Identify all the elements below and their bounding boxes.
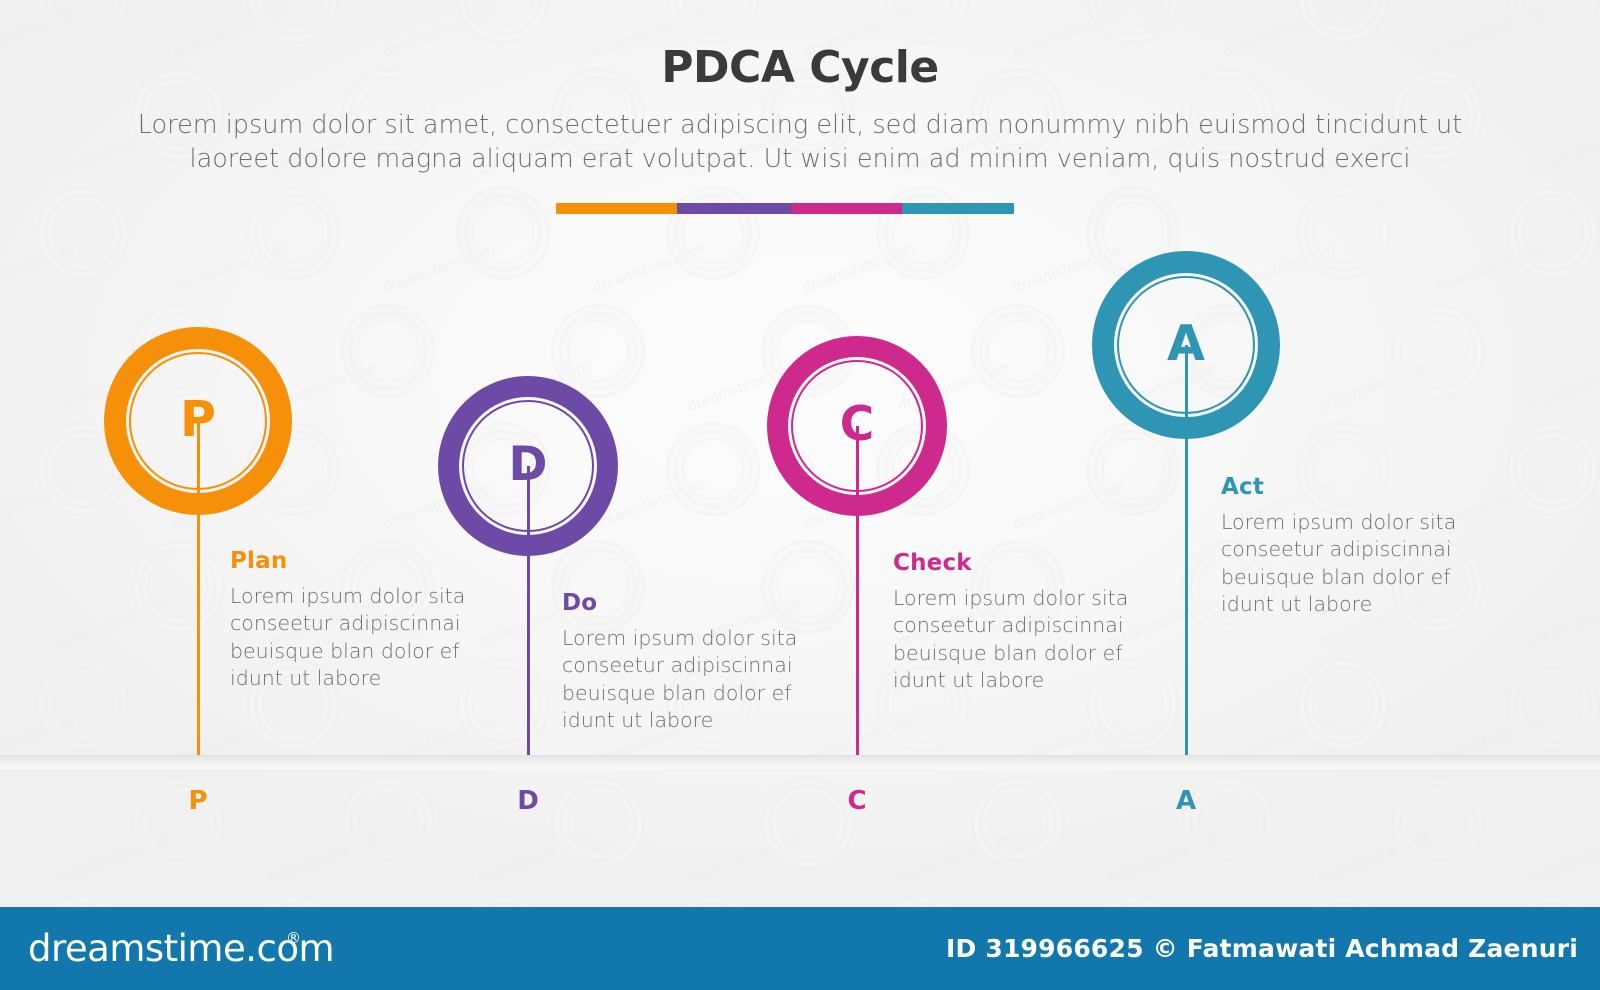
- page-title: PDCA Cycle: [0, 42, 1600, 93]
- step-circle-outer-ring[interactable]: [767, 336, 947, 516]
- watermark-text: dreamstime.com: [801, 240, 918, 296]
- watermark-spiral-icon: [682, 438, 744, 500]
- header: PDCA Cycle Lorem ipsum dolor sit amet, c…: [0, 0, 1600, 176]
- watermark-spiral-icon: [472, 202, 534, 264]
- dreamstime-logo: dreamstime.com ®: [28, 927, 349, 970]
- bottom-step-letter-c: C: [827, 786, 887, 816]
- watermark-spiral-icon: [1522, 438, 1584, 500]
- bottom-divider-band: [0, 755, 1600, 769]
- watermark-spiral-icon: [777, 556, 839, 618]
- watermark-text: dreamstime.com: [1011, 476, 1128, 532]
- watermark-text: dreamstime.com: [171, 240, 288, 296]
- segment-plan: [556, 203, 677, 214]
- watermark-text: dreamstime.com: [0, 476, 77, 532]
- watermark-spiral-icon: [1312, 202, 1374, 264]
- watermark-text: dreamstime.com: [1526, 830, 1600, 886]
- watermark-spiral-icon: [472, 674, 534, 736]
- step-title: Check: [893, 550, 1141, 576]
- step-description: Lorem ipsum dolor sita conseetur adipisc…: [562, 625, 810, 734]
- watermark-text: dreamstime.com: [266, 594, 383, 650]
- watermark-spiral-icon: [52, 438, 114, 500]
- watermark-spiral-icon: [1102, 202, 1164, 264]
- watermark-text: dreamstime.com: [0, 240, 77, 296]
- watermark-text: dreamstime.com: [896, 830, 1013, 886]
- watermark-spiral-icon: [262, 674, 324, 736]
- bottom-step-letter-a: A: [1156, 786, 1216, 816]
- watermark-text: dreamstime.com: [476, 830, 593, 886]
- watermark-spiral-icon: [1407, 556, 1469, 618]
- step-text-block: ActLorem ipsum dolor sita conseetur adip…: [1221, 474, 1476, 618]
- watermark-spiral-icon: [987, 792, 1049, 854]
- watermark-spiral-icon: [1102, 438, 1164, 500]
- watermark-text: dreamstime.com: [1106, 830, 1223, 886]
- watermark-spiral-icon: [52, 674, 114, 736]
- watermark-spiral-icon: [357, 320, 419, 382]
- watermark-spiral-icon: [1197, 556, 1259, 618]
- watermark-text: dreamstime.com: [56, 830, 173, 886]
- watermark-text: dreamstime.com: [1106, 594, 1223, 650]
- watermark-spiral-icon: [262, 202, 324, 264]
- accent-color-bar: [556, 203, 1014, 214]
- watermark-text: dreamstime.com: [1316, 594, 1433, 650]
- watermark-spiral-icon: [987, 556, 1049, 618]
- watermark-spiral-icon: [1407, 320, 1469, 382]
- watermark-text: dreamstime.com: [1526, 358, 1600, 414]
- registered-icon: ®: [286, 929, 301, 947]
- step-title: Do: [562, 590, 810, 616]
- watermark-text: dreamstime.com: [1316, 358, 1433, 414]
- watermark-spiral-icon: [1312, 438, 1374, 500]
- watermark-text: dreamstime.com: [1431, 476, 1548, 532]
- page-subtitle: Lorem ipsum dolor sit amet, consectetuer…: [120, 109, 1480, 176]
- watermark-spiral-icon: [357, 792, 419, 854]
- step-circle-outer-ring[interactable]: [104, 327, 292, 515]
- step-text-block: CheckLorem ipsum dolor sita conseetur ad…: [893, 550, 1141, 694]
- step-description: Lorem ipsum dolor sita conseetur adipisc…: [893, 585, 1141, 694]
- step-title: Plan: [230, 548, 485, 574]
- watermark-spiral-icon: [52, 202, 114, 264]
- watermark-text: dreamstime.com: [896, 594, 1013, 650]
- watermark-text: dreamstime.com: [686, 830, 803, 886]
- watermark-text: dreamstime.com: [686, 594, 803, 650]
- watermark-text: dreamstime.com: [1431, 240, 1548, 296]
- segment-do: [677, 203, 791, 214]
- watermark-spiral-icon: [1102, 674, 1164, 736]
- watermark-spiral-icon: [1407, 792, 1469, 854]
- bottom-step-letter-d: D: [498, 786, 558, 816]
- infographic-canvas: dreamstime.comdreamstime.comdreamstime.c…: [0, 0, 1600, 990]
- watermark-spiral-icon: [357, 556, 419, 618]
- watermark-text: dreamstime.com: [1221, 476, 1338, 532]
- watermark-spiral-icon: [987, 320, 1049, 382]
- step-description: Lorem ipsum dolor sita conseetur adipisc…: [1221, 509, 1476, 618]
- watermark-spiral-icon: [147, 556, 209, 618]
- watermark-spiral-icon: [892, 674, 954, 736]
- segment-act: [902, 203, 1014, 214]
- step-title: Act: [1221, 474, 1476, 500]
- watermark-text: dreamstime.com: [591, 240, 708, 296]
- segment-check: [791, 203, 903, 214]
- watermark-spiral-icon: [1522, 202, 1584, 264]
- watermark-spiral-icon: [567, 320, 629, 382]
- watermark-spiral-icon: [567, 556, 629, 618]
- step-text-block: PlanLorem ipsum dolor sita conseetur adi…: [230, 548, 485, 692]
- footer-bar: dreamstime.com ® ID 319966625 © Fatmawat…: [0, 907, 1600, 990]
- step-description: Lorem ipsum dolor sita conseetur adipisc…: [230, 583, 485, 692]
- step-circle-outer-ring[interactable]: [1092, 251, 1280, 439]
- watermark-spiral-icon: [1522, 674, 1584, 736]
- watermark-spiral-icon: [567, 792, 629, 854]
- watermark-spiral-icon: [682, 674, 744, 736]
- bottom-step-letter-p: P: [168, 786, 228, 816]
- watermark-text: dreamstime.com: [381, 240, 498, 296]
- watermark-spiral-icon: [1312, 674, 1374, 736]
- watermark-text: dreamstime.com: [266, 830, 383, 886]
- step-circle-outer-ring[interactable]: [438, 376, 618, 556]
- watermark-text: dreamstime.com: [476, 594, 593, 650]
- watermark-text: dreamstime.com: [1526, 594, 1600, 650]
- footer-credit: ID 319966625 © Fatmawati Achmad Zaenuri: [946, 934, 1578, 963]
- watermark-text: dreamstime.com: [1316, 830, 1433, 886]
- step-text-block: DoLorem ipsum dolor sita conseetur adipi…: [562, 590, 810, 734]
- watermark-text: dreamstime.com: [56, 594, 173, 650]
